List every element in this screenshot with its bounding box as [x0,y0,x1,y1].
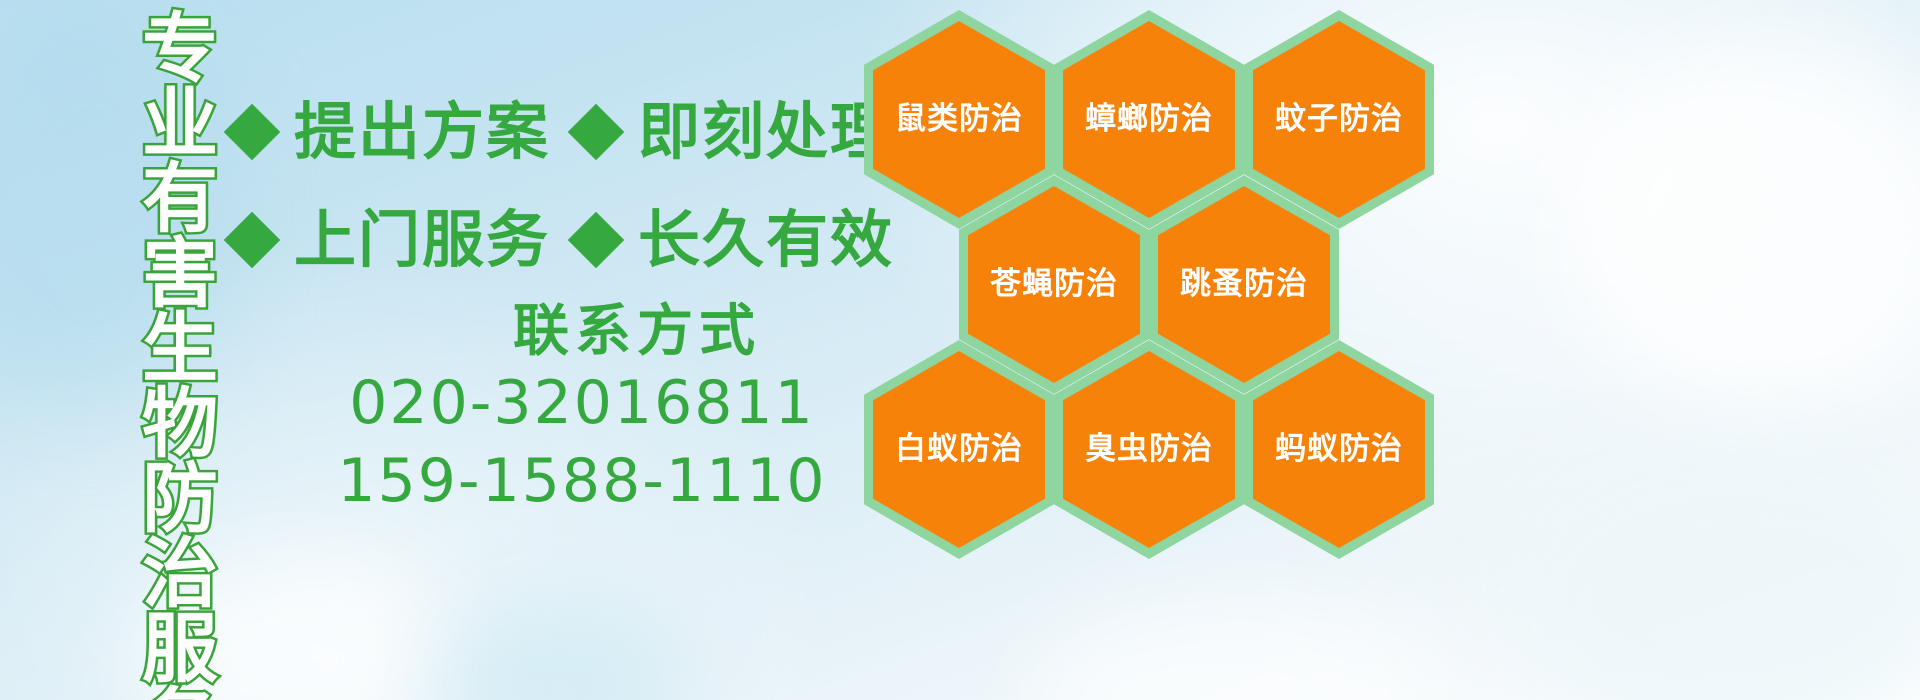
diamond-bullet-icon [224,104,281,161]
diamond-bullet-icon [568,104,625,161]
vertical-headline: 专业有害生物防治服务 [108,8,212,698]
hex-label: 鼠类防治 [895,104,1023,135]
hex-label: 臭虫防治 [1085,434,1213,465]
feature-row: 上门服务 长久有效 [232,186,872,294]
hex-label: 蟑螂防治 [1085,104,1213,135]
contact-heading: 联系方式 [232,300,872,364]
phone-number-landline[interactable]: 020-32016811 [232,364,872,442]
feature-label: 提出方案 [294,101,550,163]
hex-fill: 蟑螂防治 [1063,21,1235,218]
feature-label: 长久有效 [638,209,894,271]
diamond-bullet-icon [224,212,281,269]
hex-label: 跳蚤防治 [1180,269,1308,300]
hex-label: 蚂蚁防治 [1275,434,1403,465]
service-honeycomb: 鼠类防治 蟑螂防治 蚊子防治 苍蝇防治 跳蚤防治 白蚁防治 [860,0,1480,600]
hex-label: 白蚁防治 [895,434,1023,465]
hex-label: 苍蝇防治 [990,269,1118,300]
promo-banner: 专业有害生物防治服务 提出方案 即刻处理 上门服务 长久有效 联系方式 020-… [0,0,1920,700]
hex-fill: 蚂蚁防治 [1253,351,1425,548]
background-blob [430,600,690,700]
hex-fill: 跳蚤防治 [1158,186,1330,383]
hex-fill: 苍蝇防治 [968,186,1140,383]
phone-number-mobile[interactable]: 159-1588-1110 [232,442,872,520]
feature-label: 即刻处理 [638,101,894,163]
background-blob [1560,40,1920,420]
hex-fill: 蚊子防治 [1253,21,1425,218]
feature-list: 提出方案 即刻处理 上门服务 长久有效 [232,78,872,294]
contact-block: 联系方式 020-32016811 159-1588-1110 [232,300,872,520]
feature-label: 上门服务 [294,209,550,271]
background-blob [1500,440,1920,700]
background-blob [1020,600,1440,700]
hex-fill: 鼠类防治 [873,21,1045,218]
hex-fill: 白蚁防治 [873,351,1045,548]
diamond-bullet-icon [568,212,625,269]
hex-fill: 臭虫防治 [1063,351,1235,548]
hex-label: 蚊子防治 [1275,104,1403,135]
feature-row: 提出方案 即刻处理 [232,78,872,186]
